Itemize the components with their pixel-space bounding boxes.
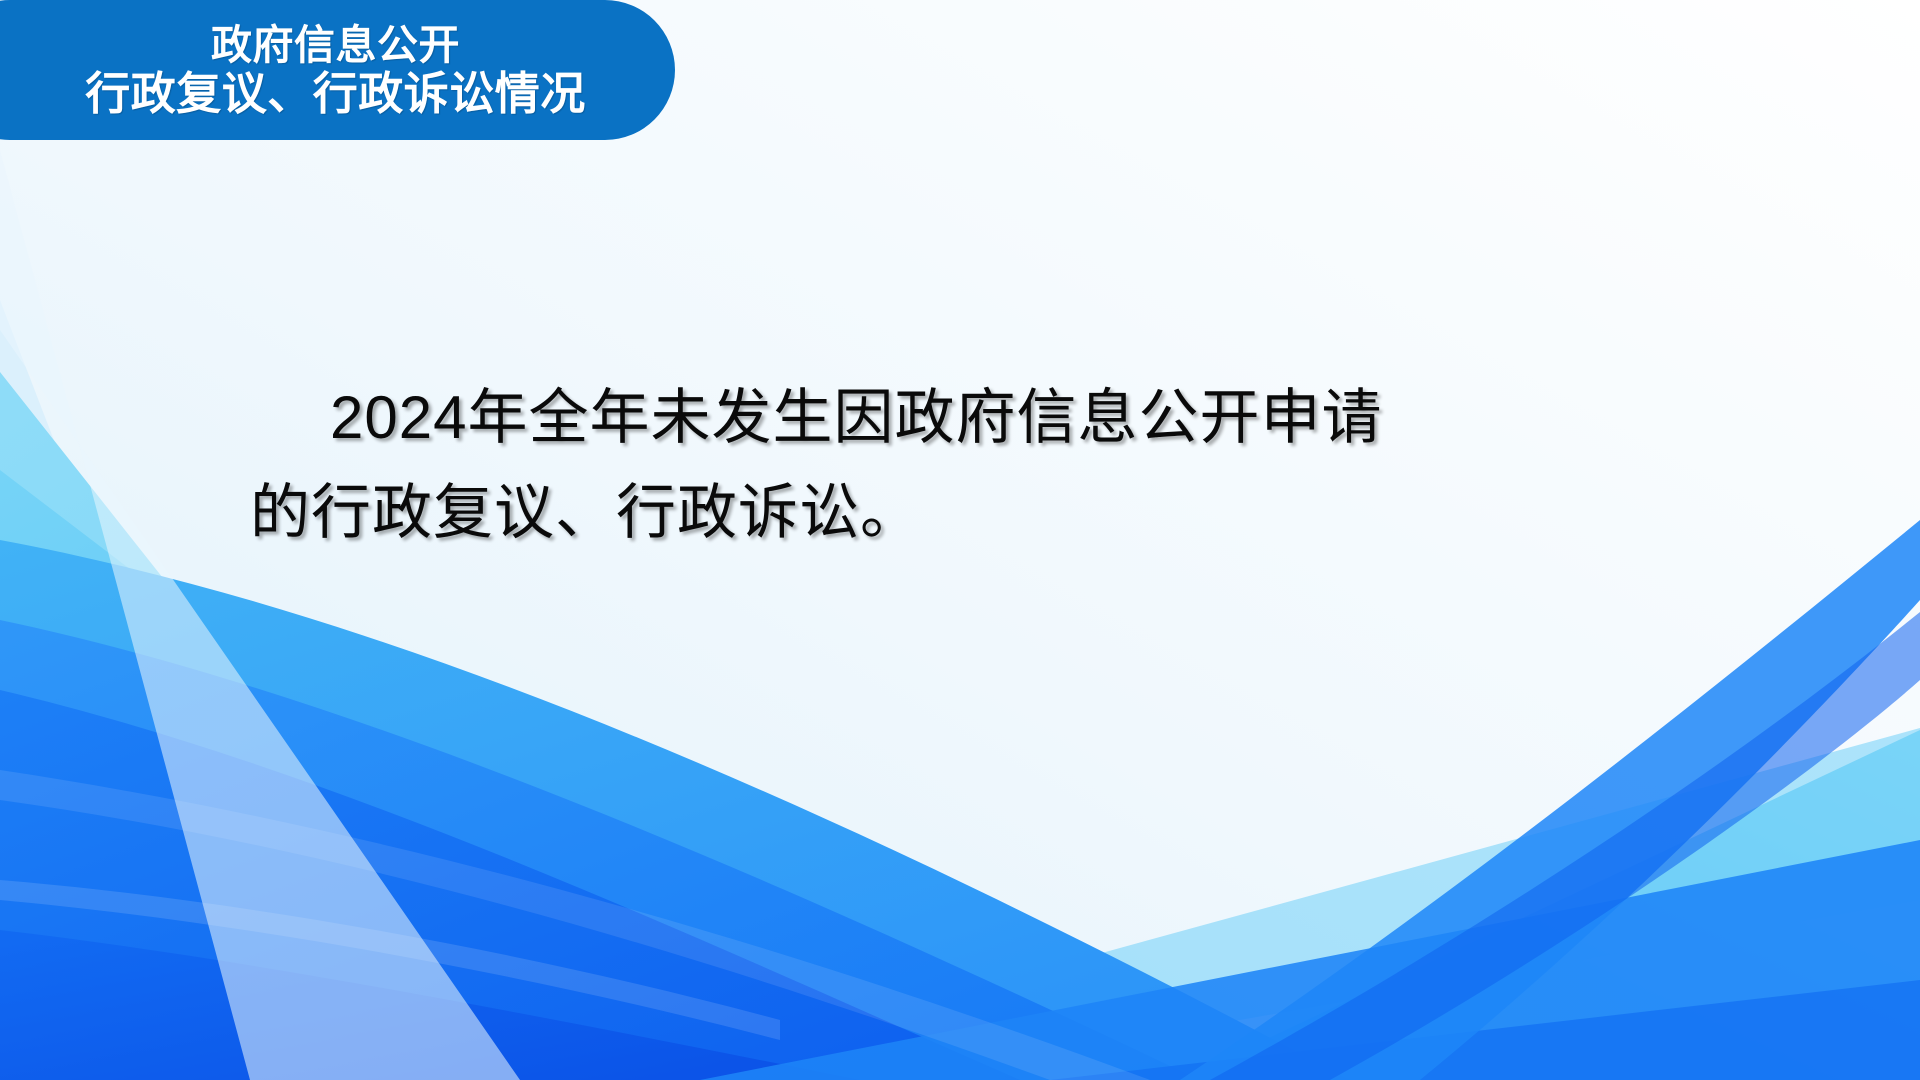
- body-line-1: 2024年全年未发生因政府信息公开申请: [250, 370, 1650, 465]
- title-badge: 政府信息公开 行政复议、行政诉讼情况: [0, 0, 675, 140]
- slide-canvas: 政府信息公开 行政复议、行政诉讼情况 2024年全年未发生因政府信息公开申请 的…: [0, 0, 1920, 1080]
- body-paragraph: 2024年全年未发生因政府信息公开申请 的行政复议、行政诉讼。: [250, 370, 1650, 560]
- title-badge-line-1: 政府信息公开: [211, 25, 460, 67]
- title-badge-line-2: 行政复议、行政诉讼情况: [85, 71, 586, 117]
- body-line-2: 的行政复议、行政诉讼。: [250, 465, 1650, 560]
